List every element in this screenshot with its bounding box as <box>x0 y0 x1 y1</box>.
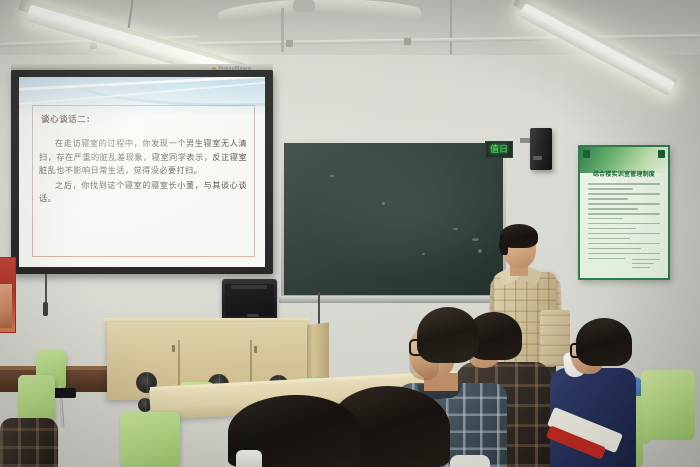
attendee-hair <box>417 307 479 363</box>
classroom-photo: ProjectBoard 谈心谈话二: 在走访寝室的过程中，你发现一个男生寝室无… <box>0 0 700 467</box>
chalk-mark <box>330 175 334 177</box>
chalk-mark <box>422 253 425 255</box>
teacher-hair-side <box>499 236 508 255</box>
slide-body-text: 在走访寝室的过程中，你发现一个男生寝室无人清扫，存在严重的脏乱差现象，寝室同学表… <box>39 137 247 207</box>
classroom-chair[interactable] <box>641 370 695 440</box>
poster-emblem-icon <box>583 150 590 158</box>
ceiling-fan-hub <box>293 0 315 12</box>
wall-speaker <box>530 128 552 170</box>
projected-slide: 谈心谈话二: 在走访寝室的过程中，你发现一个男生寝室无人清扫，存在严重的脏乱差现… <box>19 77 265 267</box>
gooseneck-mic-head <box>316 287 321 292</box>
ceiling-fan-rod <box>281 8 284 52</box>
slide-paragraph: 之后，你找到这个寝室的寝室长小董，与其谈心谈话。 <box>39 179 247 206</box>
chalk-mark <box>453 228 458 230</box>
conduit-clip <box>286 40 293 47</box>
gooseneck-mic-stand <box>318 290 320 324</box>
poster-title: 综合楼实训室管理制度 <box>580 169 668 178</box>
monitor-power-led <box>247 314 259 317</box>
poster-emblem-icon <box>658 150 665 158</box>
slide-title: 谈心谈话二: <box>41 113 91 125</box>
chalk-mark <box>382 202 385 205</box>
poster-red-image <box>0 284 12 328</box>
seated-person-white-top <box>450 455 490 467</box>
slide-paragraph: 在走访寝室的过程中，你发现一个男生寝室无人清扫，存在严重的脏乱差现象，寝室同学表… <box>39 137 247 178</box>
classroom-chair[interactable] <box>120 412 180 467</box>
screen-pull-cord-handle[interactable] <box>43 302 48 316</box>
blackboard-surface <box>284 143 503 295</box>
conduit-clip <box>90 42 97 49</box>
conduit-clip <box>404 38 411 45</box>
wall-poster-red <box>0 257 16 333</box>
classroom-chair[interactable] <box>18 375 55 422</box>
monitor-bezel-strip <box>231 285 267 289</box>
seated-person-collar <box>236 450 262 467</box>
poster-body-lines <box>588 183 660 263</box>
led-display-board: 值日 <box>485 141 513 158</box>
ceiling-seam <box>450 0 452 60</box>
partial-person-shoulder <box>0 418 58 467</box>
student-hair <box>576 318 632 366</box>
podium-door-handle[interactable] <box>254 346 257 353</box>
chalk-tray <box>279 296 508 303</box>
poster-signature-block <box>632 259 660 271</box>
speaker-badge <box>533 156 542 160</box>
led-display-text: 值日 <box>490 145 508 155</box>
chalk-mark <box>472 238 479 241</box>
podium-door-handle[interactable] <box>172 345 175 352</box>
wall-poster-regulations: 综合楼实训室管理制度 <box>578 145 670 280</box>
chalk-mark <box>478 249 482 253</box>
